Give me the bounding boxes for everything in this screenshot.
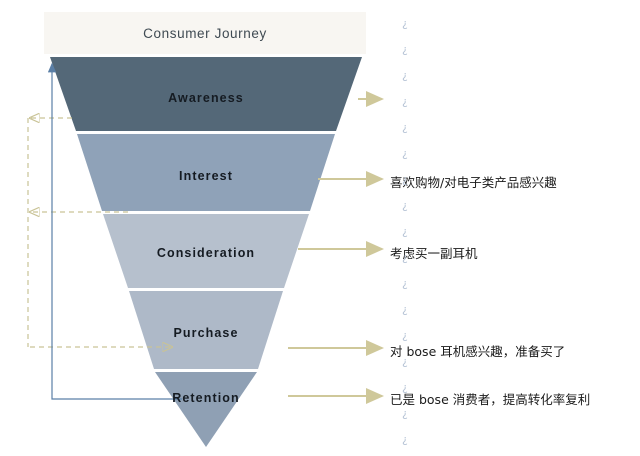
formatting-mark: ¿ <box>402 278 408 289</box>
funnel-label-interest: Interest <box>179 169 233 183</box>
annotation-interest: 喜欢购物/对电子类产品感兴趣 <box>390 172 557 191</box>
funnel-label-awareness: Awareness <box>168 91 244 105</box>
formatting-mark: ¿ <box>402 252 408 263</box>
formatting-mark: ¿ <box>402 44 408 55</box>
formatting-mark: ¿ <box>402 356 408 367</box>
formatting-mark: ¿ <box>402 96 408 107</box>
formatting-mark: ¿ <box>402 408 408 419</box>
formatting-mark: ¿ <box>402 330 408 341</box>
funnel-label-purchase: Purchase <box>173 326 238 340</box>
slide-canvas: Consumer Journey <box>0 0 640 456</box>
formatting-mark: ¿ <box>402 434 408 445</box>
formatting-mark: ¿ <box>402 200 408 211</box>
formatting-mark: ¿ <box>402 382 408 393</box>
funnel-label-retention: Retention <box>172 391 240 405</box>
formatting-mark: ¿ <box>402 226 408 237</box>
funnel-label-consideration: Consideration <box>157 246 255 260</box>
formatting-mark: ¿ <box>402 174 408 185</box>
annotation-retention: 已是 bose 消费者，提高转化率复利 <box>390 389 590 408</box>
formatting-mark: ¿ <box>402 70 408 81</box>
funnel-band-retention <box>155 372 257 447</box>
formatting-mark: ¿ <box>402 148 408 159</box>
annotation-purchase: 对 bose 耳机感兴趣，准备买了 <box>390 341 565 360</box>
formatting-mark: ¿ <box>402 122 408 133</box>
formatting-mark: ¿ <box>402 18 408 29</box>
funnel-graphic <box>0 0 640 456</box>
formatting-mark: ¿ <box>402 304 408 315</box>
